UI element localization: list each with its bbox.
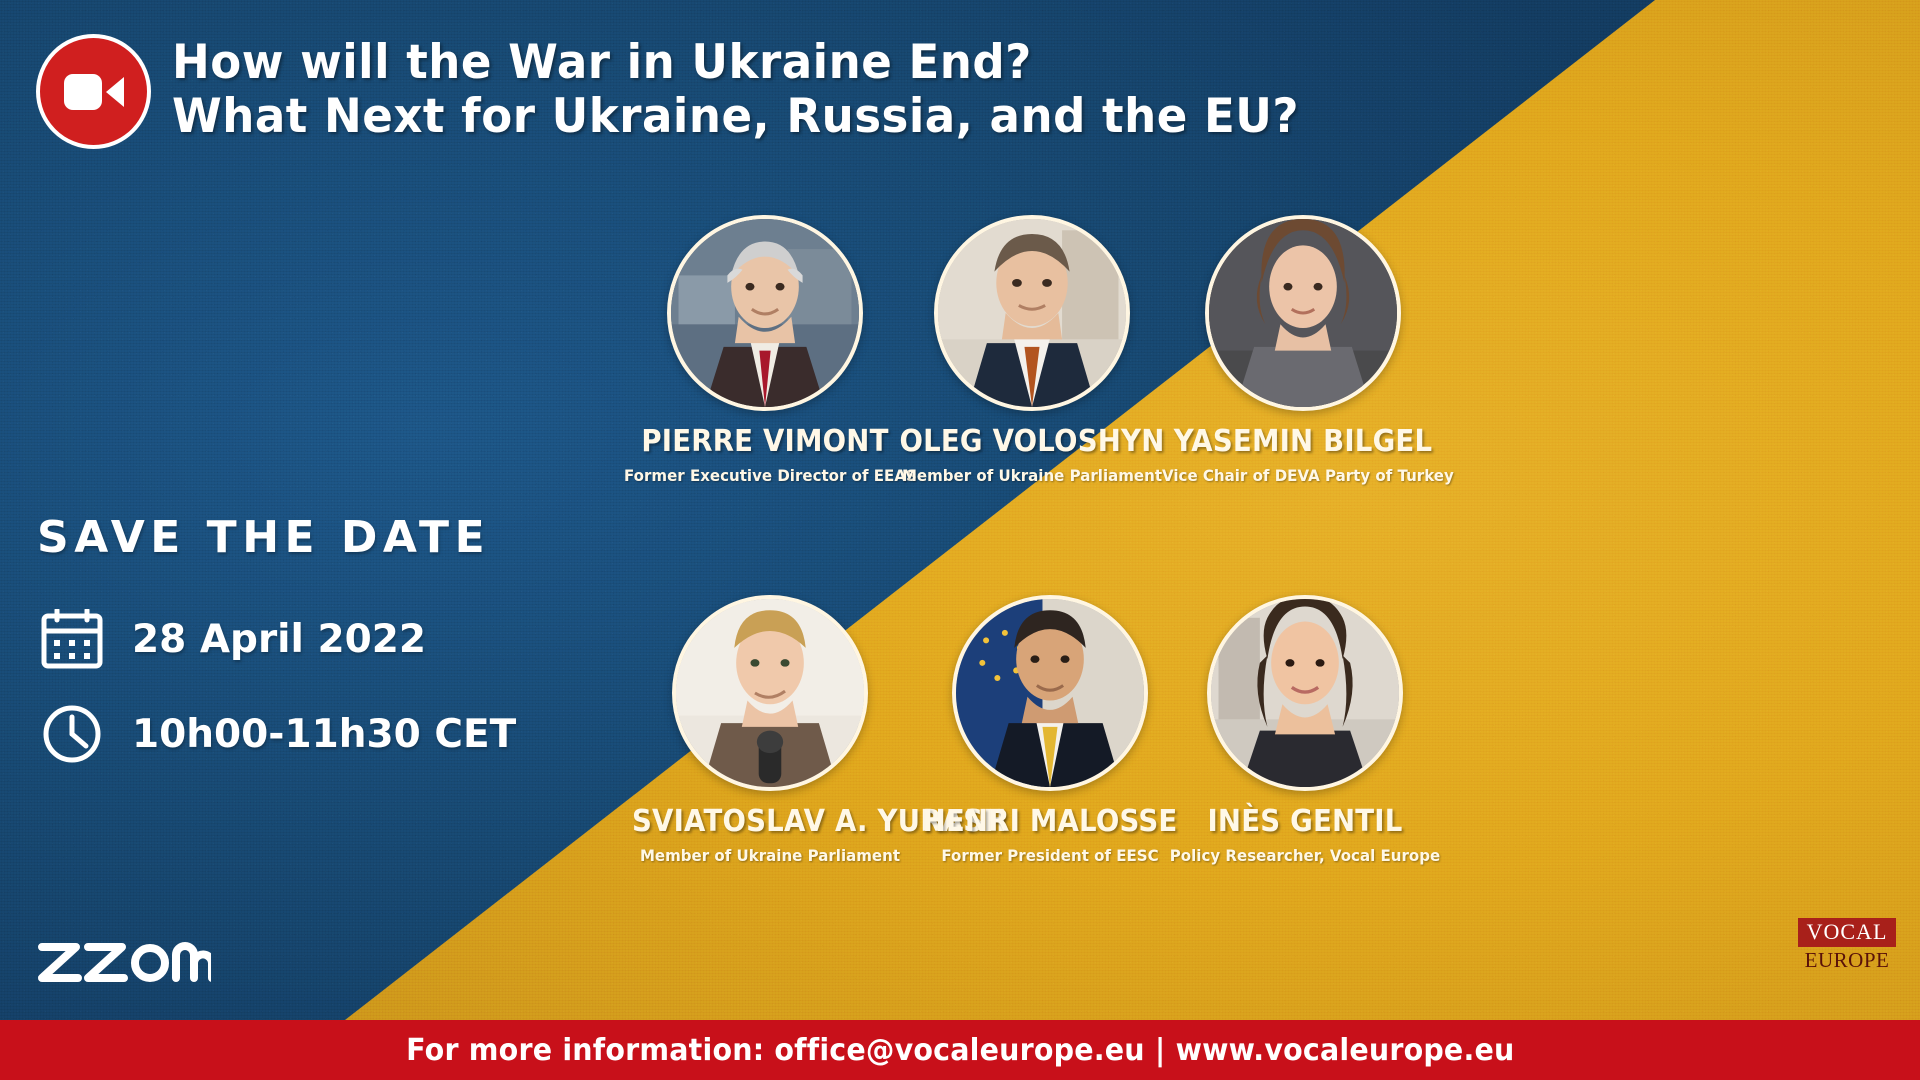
speaker-role: Vice Chair of DEVA Party of Turkey bbox=[1162, 466, 1444, 486]
title-line-1: How will the War in Ukraine End? bbox=[172, 36, 1516, 90]
speaker-name: YASEMIN BILGEL bbox=[1165, 425, 1441, 459]
speaker-card: INÈS GENTIL Policy Researcher, Vocal Eur… bbox=[1155, 595, 1455, 866]
speaker-card: YASEMIN BILGEL Vice Chair of DEVA Party … bbox=[1153, 215, 1453, 486]
zoom-logo bbox=[36, 925, 211, 987]
calendar-icon bbox=[38, 605, 106, 673]
save-the-date-heading: SAVE THE DATE bbox=[37, 512, 490, 563]
speaker-role: Member of Ukraine Parliament bbox=[629, 846, 911, 866]
speaker-name: HENRI MALOSSE bbox=[912, 805, 1188, 839]
event-poster: How will the War in Ukraine End? What Ne… bbox=[0, 0, 1920, 1080]
speaker-role: Member of Ukraine Parliament bbox=[891, 466, 1173, 486]
speaker-role: Former Executive Director of EEAS bbox=[624, 466, 906, 486]
speaker-card: PIERRE VIMONT Former Executive Director … bbox=[615, 215, 915, 486]
speaker-name: OLEG VOLOSHYN bbox=[894, 425, 1170, 459]
event-time-row: 10h00-11h30 CET bbox=[38, 700, 516, 768]
avatar bbox=[952, 595, 1148, 791]
speaker-name: SVIATOSLAV A. YURASH bbox=[632, 805, 908, 839]
avatar bbox=[934, 215, 1130, 411]
speaker-role: Former President of EESC bbox=[909, 846, 1191, 866]
footer-bar: For more information: office@vocaleurope… bbox=[0, 1020, 1920, 1080]
logo-vocal: VOCAL bbox=[1798, 918, 1896, 947]
title-line-2: What Next for Ukraine, Russia, and the E… bbox=[172, 90, 1516, 144]
speaker-card: OLEG VOLOSHYN Member of Ukraine Parliame… bbox=[882, 215, 1182, 486]
speaker-name: PIERRE VIMONT bbox=[627, 425, 903, 459]
speaker-name: INÈS GENTIL bbox=[1167, 805, 1443, 839]
event-time: 10h00-11h30 CET bbox=[132, 712, 516, 757]
avatar bbox=[1207, 595, 1403, 791]
event-date-row: 28 April 2022 bbox=[38, 605, 426, 673]
footer-contact: For more information: office@vocaleurope… bbox=[406, 1033, 1514, 1068]
page-title: How will the War in Ukraine End? What Ne… bbox=[172, 36, 1572, 144]
logo-europe: EUROPE bbox=[1798, 947, 1896, 971]
event-date: 28 April 2022 bbox=[132, 617, 426, 662]
vocal-europe-logo: VOCAL EUROPE bbox=[1798, 918, 1896, 971]
avatar bbox=[667, 215, 863, 411]
speaker-role: Policy Researcher, Vocal Europe bbox=[1164, 846, 1446, 866]
speaker-card: SVIATOSLAV A. YURASH Member of Ukraine P… bbox=[620, 595, 920, 866]
avatar bbox=[1205, 215, 1401, 411]
avatar bbox=[672, 595, 868, 791]
clock-icon bbox=[38, 700, 106, 768]
video-camera-icon bbox=[36, 34, 151, 149]
